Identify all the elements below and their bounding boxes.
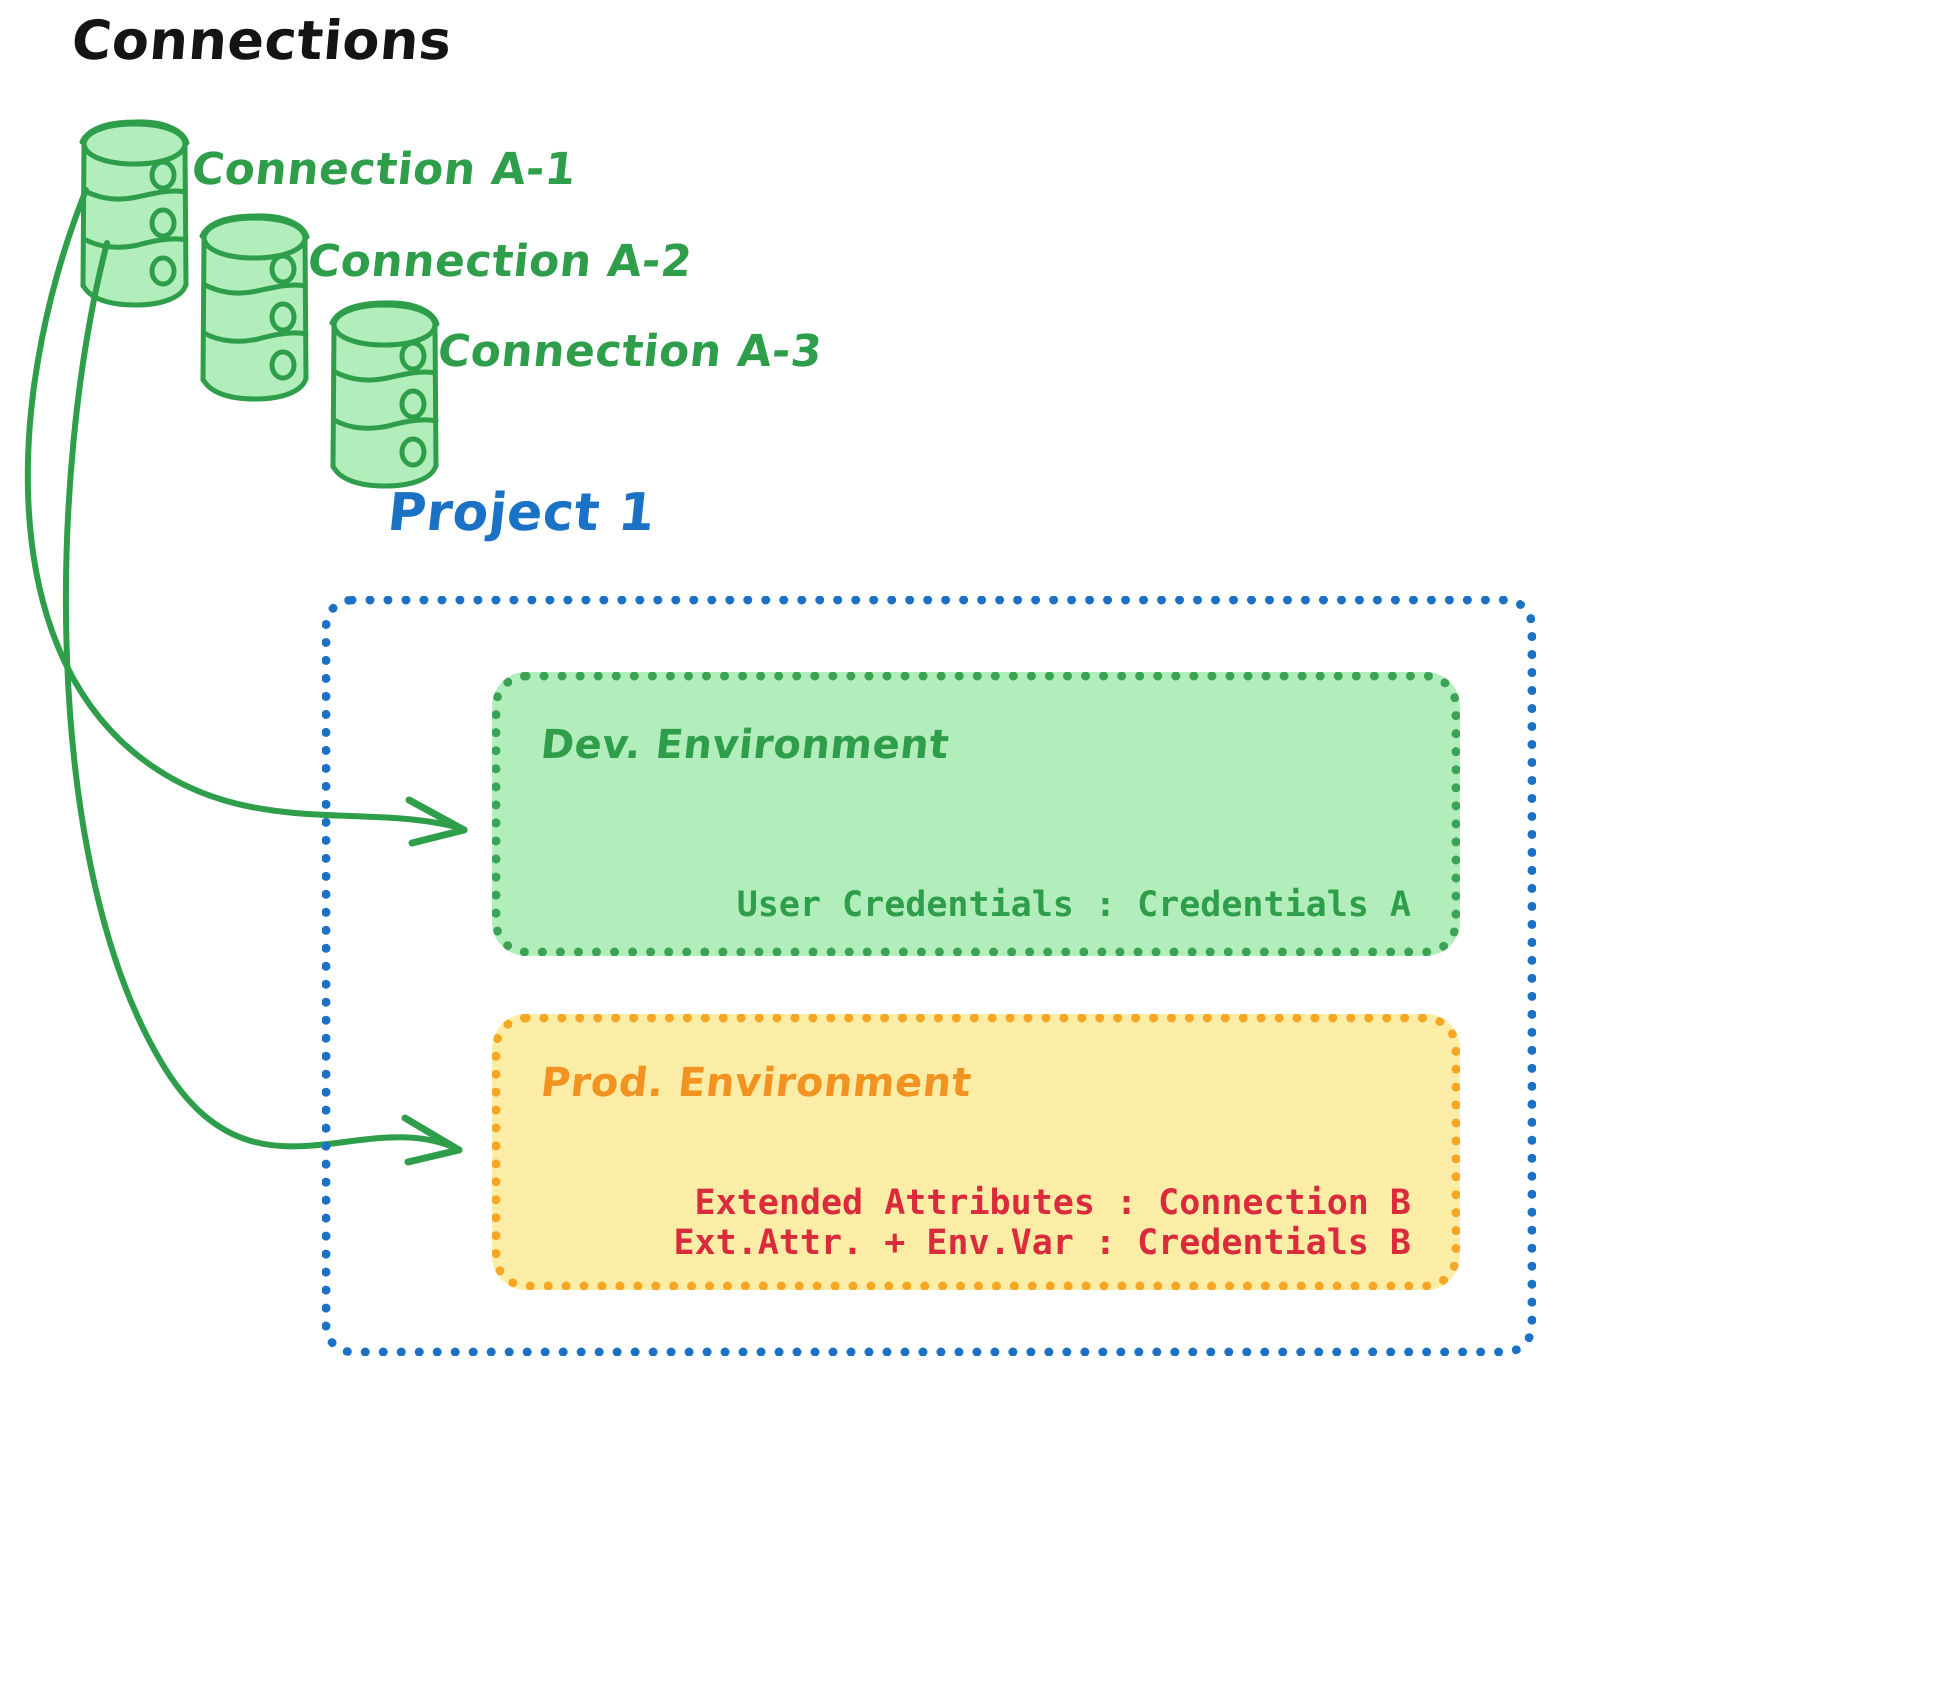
connection-label-a-2: Connection A-2 [306,240,695,284]
prod-env-var-line: Ext.Attr. + Env.Var : Credentials B [673,1223,1411,1263]
prod-extended-attributes-line: Extended Attributes : Connection B [673,1183,1411,1223]
diagram-canvas: Connections [0,0,1938,1691]
page-title: Connections [70,14,454,68]
prod-environment-title: Prod. Environment [539,1063,974,1103]
database-icon-connection-a-2[interactable] [202,216,307,399]
database-icon-connection-a-3[interactable] [332,303,437,486]
project-title: Project 1 [385,487,658,539]
dev-user-credentials-line: User Credentials : Credentials A [737,885,1411,925]
dev-environment-title: Dev. Environment [539,725,951,765]
database-icon-connection-a-1[interactable] [82,122,187,305]
prod-attribute-lines: Extended Attributes : Connection B Ext.A… [673,1183,1411,1263]
connection-label-a-1: Connection A-1 [190,148,579,192]
prod-environment-box[interactable]: Prod. Environment Extended Attributes : … [492,1014,1460,1290]
connection-label-a-3: Connection A-3 [436,330,825,374]
dev-environment-box[interactable]: Dev. Environment User Credentials : Cred… [492,672,1460,956]
